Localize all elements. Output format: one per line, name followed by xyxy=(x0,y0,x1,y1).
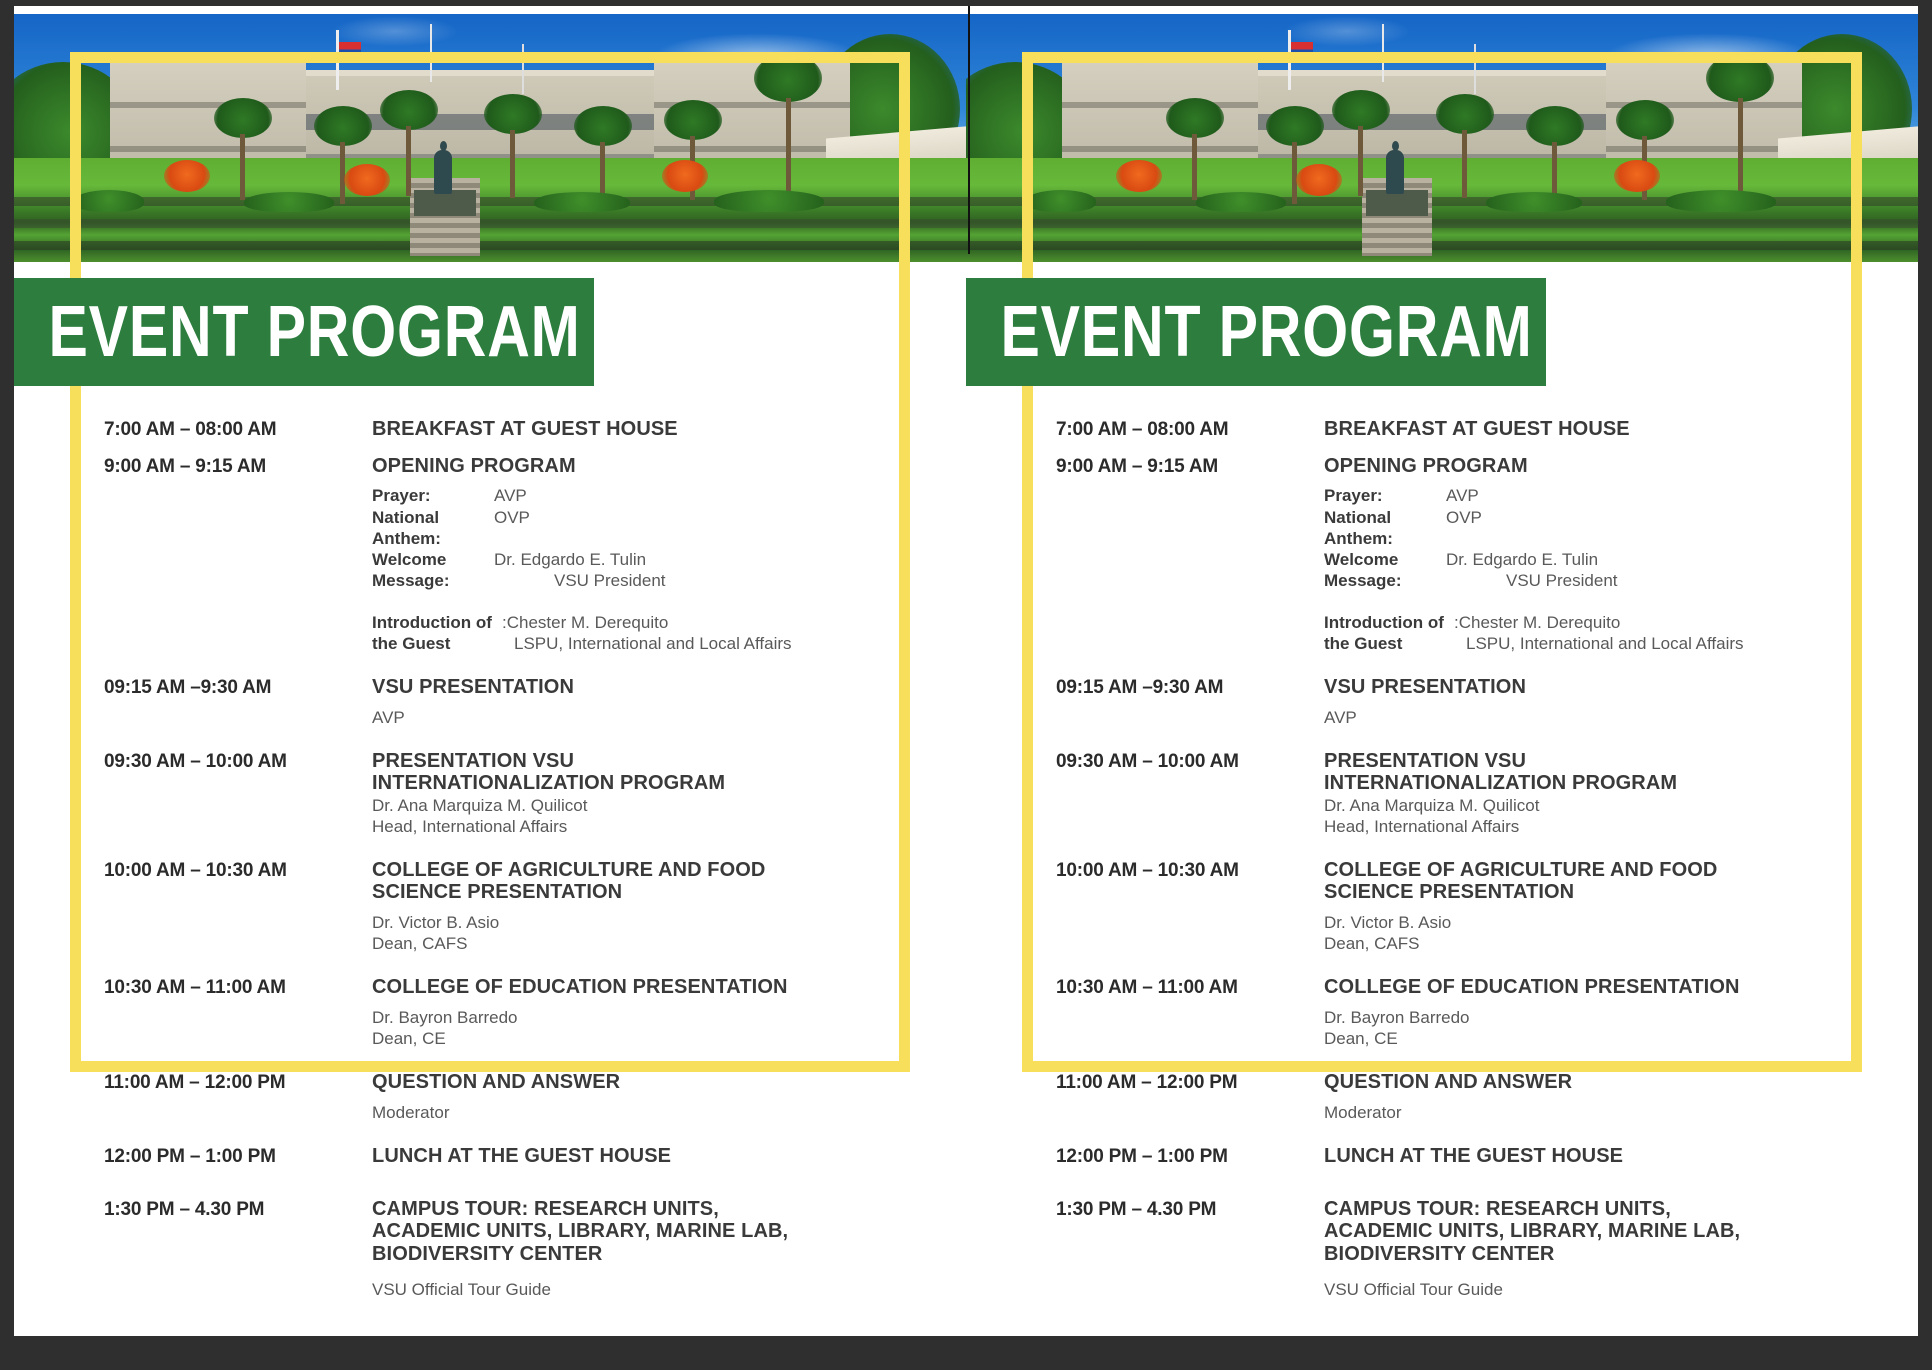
program-time: 10:00 AM – 10:30 AM xyxy=(104,859,372,882)
program-row: 7:00 AM – 08:00 AM BREAKFAST AT GUEST HO… xyxy=(1056,418,1826,441)
program-subtitle: Dean, CE xyxy=(1324,1028,1826,1049)
program-detail: COLLEGE OF AGRICULTURE AND FOOD SCIENCE … xyxy=(372,859,874,954)
palm-icon xyxy=(1526,106,1584,146)
guest-key-line1: Introduction of xyxy=(1324,613,1444,632)
program-subtitle: AVP xyxy=(372,707,874,728)
palm-trunk xyxy=(1192,134,1197,200)
terrace-step xyxy=(966,241,1918,250)
program-detail: LUNCH AT THE GUEST HOUSE xyxy=(1324,1145,1826,1167)
guest-key-line1: Introduction of xyxy=(372,613,492,632)
palm-trunk xyxy=(406,126,411,196)
guest-value-line1: :Chester M. Derequito xyxy=(502,613,668,632)
program-title: LUNCH AT THE GUEST HOUSE xyxy=(1324,1145,1826,1167)
program-time: 09:15 AM –9:30 AM xyxy=(104,676,372,699)
guest-value-line2: LSPU, International and Local Affairs xyxy=(1454,633,1744,654)
flame-tree xyxy=(344,164,390,196)
program-subtitle: Dean, CAFS xyxy=(1324,933,1826,954)
program-title: COLLEGE OF EDUCATION PRESENTATION xyxy=(372,976,874,998)
program-title: VSU PRESENTATION xyxy=(1324,676,1826,698)
page-spread: EVENT PROGRAM 7:00 AM – 08:00 AM BREAKFA… xyxy=(14,6,1918,1336)
flagpole xyxy=(1288,30,1291,90)
program-title: OPENING PROGRAM xyxy=(372,455,874,477)
balcony-line xyxy=(1606,146,1802,152)
hero-photo xyxy=(966,14,1918,262)
flag-icon xyxy=(339,42,361,56)
palm-icon xyxy=(1436,94,1494,134)
detail-value-line2: VSU President xyxy=(1446,570,1618,591)
program-row: 11:00 AM – 12:00 PM QUESTION AND ANSWER … xyxy=(1056,1071,1826,1123)
program-row: 7:00 AM – 08:00 AM BREAKFAST AT GUEST HO… xyxy=(104,418,874,441)
program-detail: CAMPUS TOUR: RESEARCH UNITS, ACADEMIC UN… xyxy=(1324,1198,1826,1300)
detail-key: Welcome Message: xyxy=(372,549,494,592)
terrace-step xyxy=(14,219,966,228)
program-row: 10:00 AM – 10:30 AM COLLEGE OF AGRICULTU… xyxy=(1056,859,1826,954)
palm-icon xyxy=(484,94,542,134)
program-detail: CAMPUS TOUR: RESEARCH UNITS, ACADEMIC UN… xyxy=(372,1198,874,1300)
program-title: COLLEGE OF AGRICULTURE AND FOOD SCIENCE … xyxy=(372,859,812,904)
program-subtitle: VSU Official Tour Guide xyxy=(1324,1279,1826,1300)
program-detail-line: Welcome Message: Dr. Edgardo E. Tulin VS… xyxy=(1324,549,1826,592)
palm-trunk xyxy=(1462,130,1467,198)
document-canvas: EVENT PROGRAM 7:00 AM – 08:00 AM BREAKFA… xyxy=(14,6,1918,1336)
program-time: 12:00 PM – 1:00 PM xyxy=(1056,1145,1324,1168)
program-detail-line: Prayer: AVP xyxy=(1324,485,1826,506)
page-divider xyxy=(968,6,970,254)
program-title: COLLEGE OF AGRICULTURE AND FOOD SCIENCE … xyxy=(1324,859,1764,904)
program-subtitle: VSU Official Tour Guide xyxy=(372,1279,874,1300)
program-detail: PRESENTATION VSU INTERNATIONALIZATION PR… xyxy=(1324,750,1826,837)
program-time: 10:30 AM – 11:00 AM xyxy=(1056,976,1324,999)
palm-icon xyxy=(1266,106,1324,146)
detail-value: AVP xyxy=(1446,485,1479,506)
detail-value-line1: Dr. Edgardo E. Tulin xyxy=(1446,550,1598,569)
program-row: 11:00 AM – 12:00 PM QUESTION AND ANSWER … xyxy=(104,1071,874,1123)
program-row: 10:00 AM – 10:30 AM COLLEGE OF AGRICULTU… xyxy=(104,859,874,954)
guest-key-line2: the Guest xyxy=(1324,634,1402,653)
program-subtitle: Dr. Victor B. Asio xyxy=(372,912,874,933)
program-title: QUESTION AND ANSWER xyxy=(1324,1071,1826,1093)
program-detail-line: National Anthem: OVP xyxy=(372,507,874,550)
detail-value: OVP xyxy=(1446,507,1482,550)
detail-key: Welcome Message: xyxy=(1324,549,1446,592)
program-subtitle: Dr. Bayron Barredo xyxy=(372,1007,874,1028)
program-row: 09:30 AM – 10:00 AM PRESENTATION VSU INT… xyxy=(1056,750,1826,837)
program-time: 09:30 AM – 10:00 AM xyxy=(104,750,372,773)
palm-icon xyxy=(214,98,272,138)
balcony-line xyxy=(1062,102,1258,108)
program-row: 09:15 AM –9:30 AM VSU PRESENTATION AVP xyxy=(1056,676,1826,728)
program-time: 1:30 PM – 4.30 PM xyxy=(104,1198,372,1221)
program-time: 1:30 PM – 4.30 PM xyxy=(1056,1198,1324,1221)
program-detail: PRESENTATION VSU INTERNATIONALIZATION PR… xyxy=(372,750,874,837)
guest-key: Introduction of the Guest xyxy=(372,612,502,655)
palm-icon xyxy=(754,54,822,102)
detail-key: Prayer: xyxy=(372,485,494,506)
program-title: QUESTION AND ANSWER xyxy=(372,1071,874,1093)
program-row: 1:30 PM – 4.30 PM CAMPUS TOUR: RESEARCH … xyxy=(104,1198,874,1300)
flagpole xyxy=(430,24,432,82)
detail-key: National Anthem: xyxy=(372,507,494,550)
detail-value: AVP xyxy=(494,485,527,506)
palm-trunk xyxy=(786,98,791,202)
program-title: CAMPUS TOUR: RESEARCH UNITS, ACADEMIC UN… xyxy=(372,1198,802,1265)
program-title: BREAKFAST AT GUEST HOUSE xyxy=(372,418,874,440)
program-detail: COLLEGE OF AGRICULTURE AND FOOD SCIENCE … xyxy=(1324,859,1826,954)
program-row: 10:30 AM – 11:00 AM COLLEGE OF EDUCATION… xyxy=(1056,976,1826,1049)
program-detail: BREAKFAST AT GUEST HOUSE xyxy=(1324,418,1826,440)
flagpole xyxy=(1474,44,1476,94)
detail-value-line1: Dr. Edgardo E. Tulin xyxy=(494,550,646,569)
flame-tree xyxy=(1116,160,1162,192)
document-viewer: EVENT PROGRAM 7:00 AM – 08:00 AM BREAKFA… xyxy=(0,0,1932,1370)
program-detail-line: National Anthem: OVP xyxy=(1324,507,1826,550)
detail-value: OVP xyxy=(494,507,530,550)
program-title: VSU PRESENTATION xyxy=(372,676,874,698)
program-subtitle: AVP xyxy=(1324,707,1826,728)
program-time: 10:00 AM – 10:30 AM xyxy=(1056,859,1324,882)
hedge xyxy=(1486,192,1582,212)
balcony-line xyxy=(654,146,850,152)
program-time: 9:00 AM – 9:15 AM xyxy=(104,455,372,478)
program-title: COLLEGE OF EDUCATION PRESENTATION xyxy=(1324,976,1826,998)
balcony-line xyxy=(1062,146,1258,152)
program-title: PRESENTATION VSU INTERNATIONALIZATION PR… xyxy=(372,750,792,795)
program-time: 11:00 AM – 12:00 PM xyxy=(1056,1071,1324,1094)
program-title: BREAKFAST AT GUEST HOUSE xyxy=(1324,418,1826,440)
palm-icon xyxy=(1706,54,1774,102)
flagpole xyxy=(1382,24,1384,82)
program-title: OPENING PROGRAM xyxy=(1324,455,1826,477)
flame-tree xyxy=(1296,164,1342,196)
hedge xyxy=(714,190,824,212)
flagpole xyxy=(336,30,339,90)
program-time: 12:00 PM – 1:00 PM xyxy=(104,1145,372,1168)
program-time: 10:30 AM – 11:00 AM xyxy=(104,976,372,999)
program-detail: OPENING PROGRAM Prayer: AVP National Ant… xyxy=(372,455,874,654)
guest-introduction: Introduction of the Guest :Chester M. De… xyxy=(1324,612,1826,655)
hedge xyxy=(244,192,334,212)
event-program-banner: EVENT PROGRAM xyxy=(14,278,594,386)
hedge xyxy=(1026,190,1096,212)
guest-value: :Chester M. Derequito LSPU, Internationa… xyxy=(1454,612,1744,655)
program-row: 09:15 AM –9:30 AM VSU PRESENTATION AVP xyxy=(104,676,874,728)
program-subtitle: Dr. Ana Marquiza M. Quilicot xyxy=(1324,795,1826,816)
palm-trunk xyxy=(510,130,515,198)
program-row: 10:30 AM – 11:00 AM COLLEGE OF EDUCATION… xyxy=(104,976,874,1049)
palm-icon xyxy=(1166,98,1224,138)
program-detail: VSU PRESENTATION AVP xyxy=(1324,676,1826,728)
flag-icon xyxy=(1291,42,1313,56)
program-subtitle: Head, International Affairs xyxy=(1324,816,1826,837)
program-time: 09:30 AM – 10:00 AM xyxy=(1056,750,1324,773)
program-time: 7:00 AM – 08:00 AM xyxy=(1056,418,1324,441)
palm-trunk xyxy=(340,142,345,204)
guest-introduction: Introduction of the Guest :Chester M. De… xyxy=(372,612,874,655)
program-detail: COLLEGE OF EDUCATION PRESENTATION Dr. Ba… xyxy=(1324,976,1826,1049)
program-detail: COLLEGE OF EDUCATION PRESENTATION Dr. Ba… xyxy=(372,976,874,1049)
palm-trunk xyxy=(1358,126,1363,196)
program-page: EVENT PROGRAM 7:00 AM – 08:00 AM BREAKFA… xyxy=(14,6,966,1336)
page-title: EVENT PROGRAM xyxy=(966,296,1533,368)
program-time: 9:00 AM – 9:15 AM xyxy=(1056,455,1324,478)
event-program-banner: EVENT PROGRAM xyxy=(966,278,1546,386)
program-row: 9:00 AM – 9:15 AM OPENING PROGRAM Prayer… xyxy=(1056,455,1826,654)
program-detail: VSU PRESENTATION AVP xyxy=(372,676,874,728)
detail-value-line2: VSU President xyxy=(494,570,666,591)
hedge xyxy=(534,192,630,212)
palm-icon xyxy=(1332,90,1390,130)
detail-value: Dr. Edgardo E. Tulin VSU President xyxy=(494,549,666,592)
detail-key: Prayer: xyxy=(1324,485,1446,506)
palm-trunk xyxy=(240,134,245,200)
program-schedule: 7:00 AM – 08:00 AM BREAKFAST AT GUEST HO… xyxy=(104,418,874,1300)
statue xyxy=(1386,150,1404,194)
flame-tree xyxy=(1614,160,1660,192)
program-row: 12:00 PM – 1:00 PM LUNCH AT THE GUEST HO… xyxy=(1056,1145,1826,1168)
program-page: EVENT PROGRAM 7:00 AM – 08:00 AM BREAKFA… xyxy=(966,6,1918,1336)
hedge xyxy=(1666,190,1776,212)
program-time: 09:15 AM –9:30 AM xyxy=(1056,676,1324,699)
program-detail: QUESTION AND ANSWER Moderator xyxy=(1324,1071,1826,1123)
program-time: 11:00 AM – 12:00 PM xyxy=(104,1071,372,1094)
terrace-step xyxy=(14,241,966,250)
program-detail: BREAKFAST AT GUEST HOUSE xyxy=(372,418,874,440)
program-detail-line: Prayer: AVP xyxy=(372,485,874,506)
guest-value: :Chester M. Derequito LSPU, Internationa… xyxy=(502,612,792,655)
palm-icon xyxy=(380,90,438,130)
program-subtitle: Dean, CE xyxy=(372,1028,874,1049)
palm-icon xyxy=(664,100,722,140)
program-detail: LUNCH AT THE GUEST HOUSE xyxy=(372,1145,874,1167)
program-subtitle: Dr. Bayron Barredo xyxy=(1324,1007,1826,1028)
program-row: 9:00 AM – 9:15 AM OPENING PROGRAM Prayer… xyxy=(104,455,874,654)
program-row: 09:30 AM – 10:00 AM PRESENTATION VSU INT… xyxy=(104,750,874,837)
hedge xyxy=(74,190,144,212)
palm-trunk xyxy=(1738,98,1743,202)
program-detail: OPENING PROGRAM Prayer: AVP National Ant… xyxy=(1324,455,1826,654)
program-row: 12:00 PM – 1:00 PM LUNCH AT THE GUEST HO… xyxy=(104,1145,874,1168)
palm-icon xyxy=(1616,100,1674,140)
terrace-step xyxy=(966,219,1918,228)
flagpole xyxy=(522,44,524,94)
palm-trunk xyxy=(1292,142,1297,204)
hedge xyxy=(1196,192,1286,212)
palm-icon xyxy=(574,106,632,146)
program-time: 7:00 AM – 08:00 AM xyxy=(104,418,372,441)
statue xyxy=(434,150,452,194)
program-row: 1:30 PM – 4.30 PM CAMPUS TOUR: RESEARCH … xyxy=(1056,1198,1826,1300)
guest-value-line2: LSPU, International and Local Affairs xyxy=(502,633,792,654)
program-subtitle: Moderator xyxy=(1324,1102,1826,1123)
program-title: LUNCH AT THE GUEST HOUSE xyxy=(372,1145,874,1167)
program-subtitle: Dr. Ana Marquiza M. Quilicot xyxy=(372,795,874,816)
program-title: PRESENTATION VSU INTERNATIONALIZATION PR… xyxy=(1324,750,1744,795)
program-schedule: 7:00 AM – 08:00 AM BREAKFAST AT GUEST HO… xyxy=(1056,418,1826,1300)
program-detail: QUESTION AND ANSWER Moderator xyxy=(372,1071,874,1123)
program-title: CAMPUS TOUR: RESEARCH UNITS, ACADEMIC UN… xyxy=(1324,1198,1754,1265)
program-subtitle: Moderator xyxy=(372,1102,874,1123)
program-subtitle: Head, International Affairs xyxy=(372,816,874,837)
guest-key: Introduction of the Guest xyxy=(1324,612,1454,655)
hero-photo xyxy=(14,14,966,262)
program-detail-line: Welcome Message: Dr. Edgardo E. Tulin VS… xyxy=(372,549,874,592)
palm-icon xyxy=(314,106,372,146)
guest-key-line2: the Guest xyxy=(372,634,450,653)
balcony-line xyxy=(110,102,306,108)
balcony-line xyxy=(110,146,306,152)
flame-tree xyxy=(164,160,210,192)
detail-value: Dr. Edgardo E. Tulin VSU President xyxy=(1446,549,1618,592)
guest-value-line1: :Chester M. Derequito xyxy=(1454,613,1620,632)
flame-tree xyxy=(662,160,708,192)
program-subtitle: Dean, CAFS xyxy=(372,933,874,954)
page-title: EVENT PROGRAM xyxy=(14,296,581,368)
program-subtitle: Dr. Victor B. Asio xyxy=(1324,912,1826,933)
detail-key: National Anthem: xyxy=(1324,507,1446,550)
